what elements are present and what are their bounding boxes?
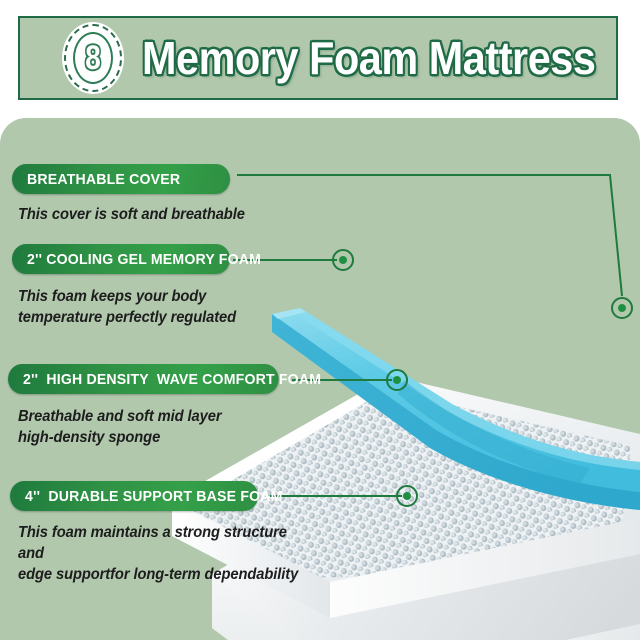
label-high-density-wave-comfort-foam[interactable]: 2'' HIGH DENSITY WAVE COMFORT FOAM [8, 364, 279, 394]
badge-number: 8 [68, 22, 119, 94]
infographic-root: 8 Memory Foam Mattress [0, 0, 640, 640]
page-title: Memory Foam Mattress [142, 34, 595, 82]
description-high-density-wave-comfort-foam: Breathable and soft mid layer high-densi… [18, 406, 303, 448]
header-bar: 8 Memory Foam Mattress [18, 16, 618, 100]
label-breathable-cover[interactable]: BREATHABLE COVER [12, 164, 230, 194]
description-durable-support-base-foam: This foam maintains a strong structure a… [18, 522, 313, 585]
marker-wave-comfort-foam[interactable] [386, 369, 408, 391]
marker-cooling-gel-foam[interactable] [332, 249, 354, 271]
step-number-badge: 8 [62, 22, 124, 94]
description-breathable-cover: This cover is soft and breathable [18, 204, 303, 225]
marker-breathable-cover[interactable] [611, 297, 633, 319]
description-cooling-gel-memory-foam: This foam keeps your body temperature pe… [18, 286, 303, 328]
marker-base-foam[interactable] [396, 485, 418, 507]
main-panel: BREATHABLE COVER This cover is soft and … [0, 118, 640, 640]
label-durable-support-base-foam[interactable]: 4'' DURABLE SUPPORT BASE FOAM [10, 481, 258, 511]
label-cooling-gel-memory-foam[interactable]: 2'' COOLING GEL MEMORY FOAM [12, 244, 230, 274]
header-content: 8 Memory Foam Mattress [20, 18, 616, 98]
